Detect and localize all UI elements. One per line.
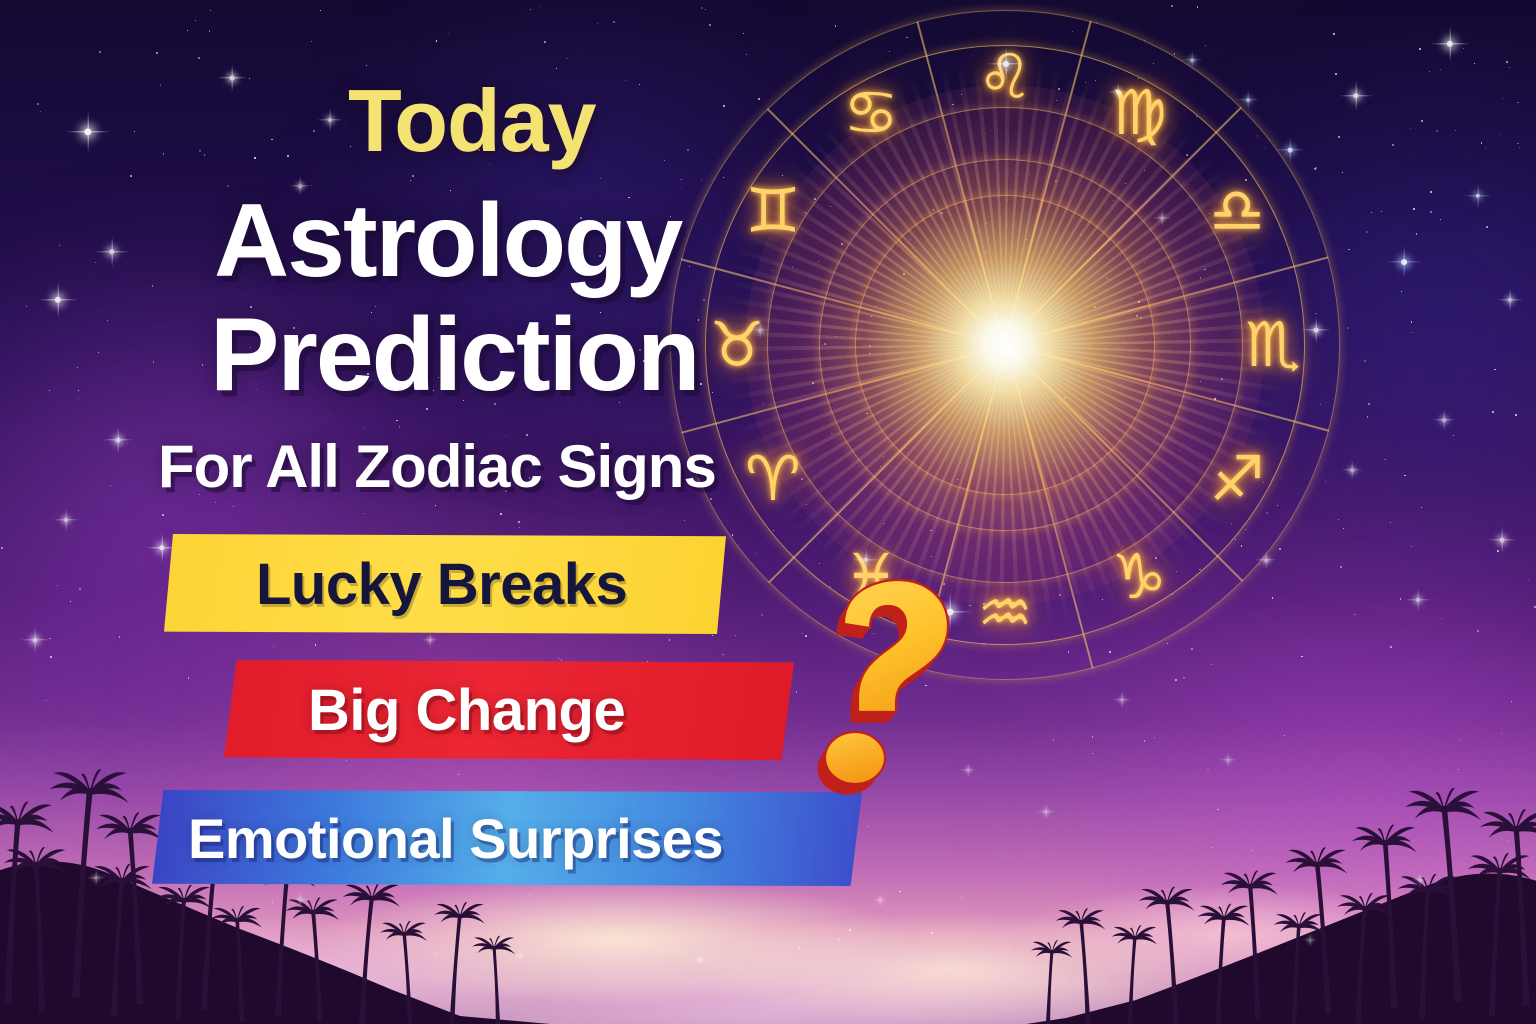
wheel-spoke: [1005, 257, 1329, 345]
wheel-spoke-inner: [898, 239, 1005, 346]
wheel-spoke-inner: [1005, 344, 1112, 451]
banner-label: Emotional Surprises: [188, 806, 723, 871]
wheel-spoke: [1004, 21, 1092, 345]
zodiac-symbol-leo: ♌: [964, 36, 1046, 118]
wheel-spoke-inner: [1005, 344, 1150, 384]
zodiac-symbol-scorpio: ♏: [1232, 304, 1314, 386]
banner-label: Lucky Breaks: [256, 551, 627, 618]
headline-line-1: Astrology: [214, 182, 681, 301]
wheel-spoke-inner: [1005, 345, 1045, 490]
wheel-spoke: [1005, 345, 1093, 669]
wheel-spoke: [917, 21, 1005, 345]
zodiac-symbol-libra: ♎: [1196, 170, 1278, 252]
zodiac-symbol-capricorn: ♑: [1098, 536, 1180, 618]
wheel-spoke-inner: [1004, 238, 1111, 345]
wheel-spoke: [1005, 344, 1329, 432]
wheel-spoke: [1005, 344, 1243, 582]
zodiac-symbol-sagittarius: ♐: [1196, 438, 1278, 520]
banner-lucky-breaks: Lucky Breaks: [164, 534, 726, 634]
zodiac-symbol-virgo: ♍: [1098, 72, 1180, 154]
wheel-spoke: [1004, 107, 1242, 345]
wheel-spoke-inner: [965, 200, 1005, 345]
question-mark-icon: [808, 578, 978, 793]
wheel-spoke-inner: [899, 345, 1006, 452]
headline-block: Today Astrology Prediction For All Zodia…: [0, 0, 900, 1024]
banner-label: Big Change: [308, 677, 625, 744]
wheel-spoke-inner: [1005, 305, 1150, 345]
astrology-poster: ♈♉♊♋♌♍♎♏♐♑♒♓ Today Astrology Prediction …: [0, 0, 1536, 1024]
wheel-spoke-inner: [1004, 200, 1044, 345]
palm-tree-silhouettes: [1026, 774, 1536, 1024]
wheel-spoke-inner: [966, 345, 1006, 490]
banner-emotional-surprises: Emotional Surprises: [152, 790, 862, 886]
eyebrow-today: Today: [348, 70, 596, 172]
nebula-glow: [980, 520, 1536, 1024]
banner-big-change: Big Change: [224, 660, 794, 760]
nebula-glow: [1180, 60, 1536, 580]
wheel-ring: [855, 195, 1155, 495]
headline-line-2: Prediction: [210, 296, 699, 415]
subheadline: For All Zodiac Signs: [158, 432, 716, 501]
